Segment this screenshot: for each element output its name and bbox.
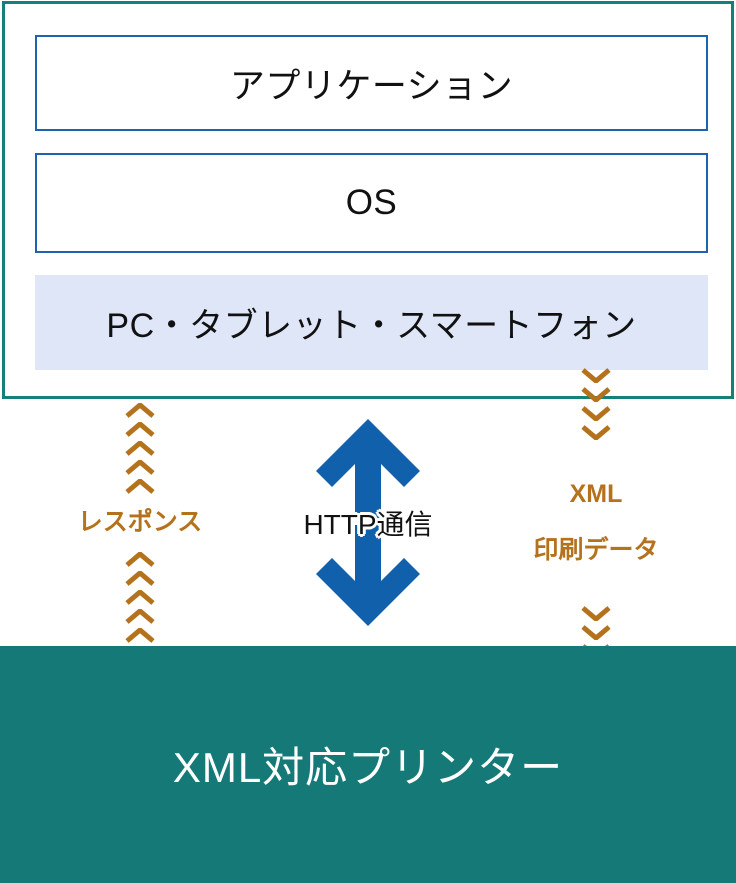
chevron-up-icon xyxy=(125,552,155,567)
printer-label: XML対応プリンター xyxy=(173,734,563,795)
chevron-stack-response-top xyxy=(125,401,155,496)
chevron-up-icon xyxy=(125,441,155,456)
printer-band: XML対応プリンター xyxy=(0,646,736,883)
chevron-up-icon xyxy=(125,403,155,418)
chevron-stack-print-top xyxy=(581,366,611,442)
chevron-stack-response-bottom xyxy=(125,550,155,645)
chevron-down-icon xyxy=(581,425,611,440)
layer-os: OS xyxy=(35,153,708,253)
channel-print-data-label-line2: 印刷データ xyxy=(533,536,658,564)
channel-print-data: XML 印刷データ xyxy=(504,400,688,645)
chevron-up-icon xyxy=(125,628,155,643)
chevron-down-icon xyxy=(581,406,611,421)
layer-hardware: PC・タブレット・スマートフォン xyxy=(35,275,708,370)
chevron-down-icon xyxy=(581,387,611,402)
chevron-up-icon xyxy=(125,571,155,586)
channel-http: HTTP通信 xyxy=(258,400,478,645)
chevron-up-icon xyxy=(125,479,155,494)
chevron-up-icon xyxy=(125,422,155,437)
channel-print-data-label-line1: XML xyxy=(533,480,658,508)
chevron-down-icon xyxy=(581,625,611,640)
device-stack-frame: アプリケーション OS PC・タブレット・スマートフォン xyxy=(2,1,734,399)
chevron-up-icon xyxy=(125,609,155,624)
layer-application-label: アプリケーション xyxy=(230,58,513,109)
http-double-arrow: HTTP通信 xyxy=(308,415,428,630)
communication-band: レスポンス HTTP通信 xyxy=(0,400,736,645)
chevron-down-icon xyxy=(581,368,611,383)
channel-print-data-label: XML 印刷データ xyxy=(533,452,658,592)
chevron-up-icon xyxy=(125,460,155,475)
layer-hardware-label: PC・タブレット・スマートフォン xyxy=(106,298,636,347)
channel-response-label: レスポンス xyxy=(78,508,203,536)
layer-os-label: OS xyxy=(346,183,398,223)
diagram-canvas: アプリケーション OS PC・タブレット・スマートフォン レスポンス xyxy=(0,0,736,883)
chevron-down-icon xyxy=(581,606,611,621)
chevron-up-icon xyxy=(125,590,155,605)
layer-application: アプリケーション xyxy=(35,35,708,131)
channel-response: レスポンス xyxy=(48,400,232,645)
channel-http-label: HTTP通信 xyxy=(303,503,432,543)
